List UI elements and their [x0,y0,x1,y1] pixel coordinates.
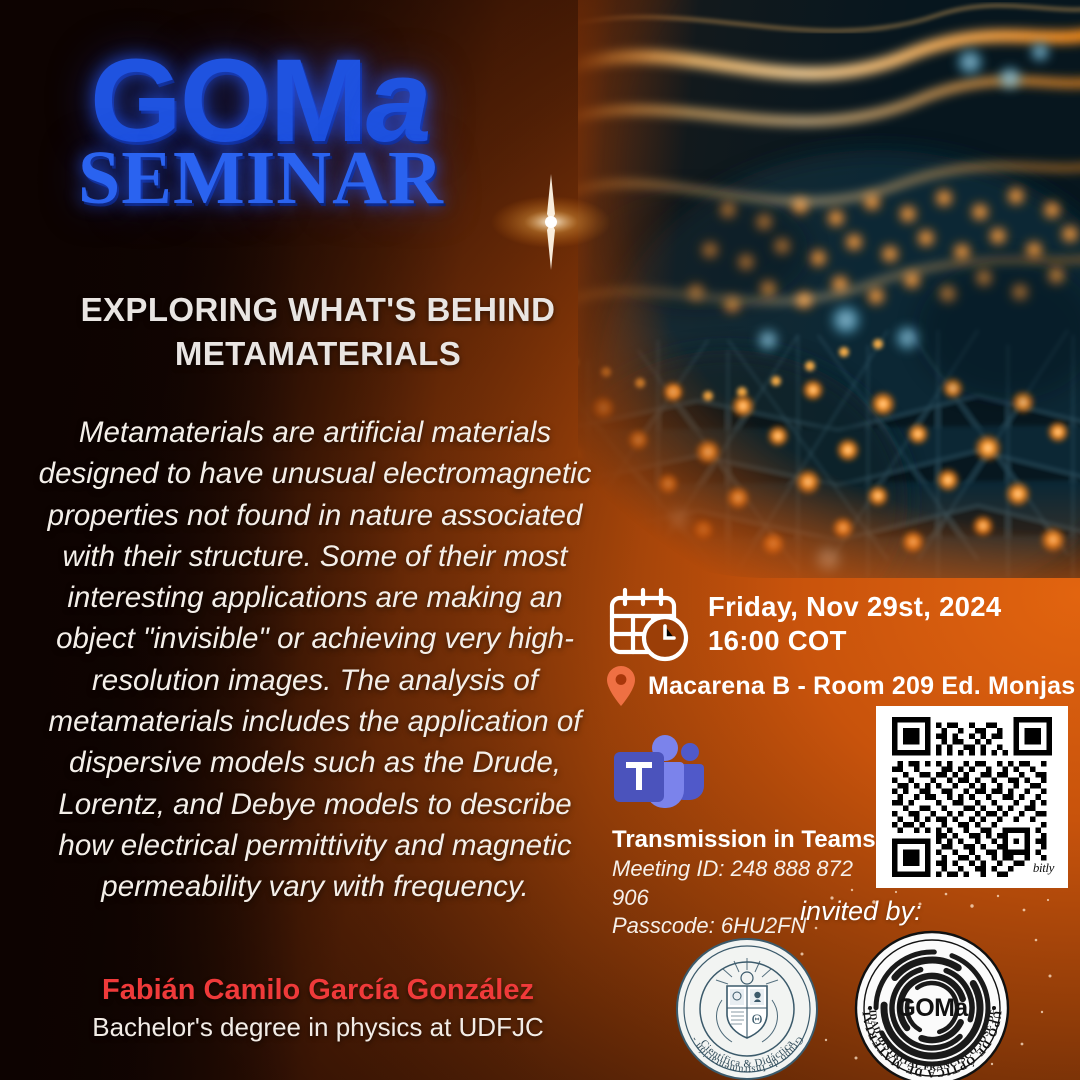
talk-abstract: Metamaterials are artificial materials d… [34,412,596,908]
organizer-seals: Científica & Didáctica Grupo de Instrume… [660,928,1070,1080]
event-time: 16:00 COT [708,624,1001,658]
invited-by-label: invited by: [800,896,922,927]
talk-title-line1: EXPLORING WHAT'S BEHIND [40,288,596,332]
talk-title-line2: METAMATERIALS [40,332,596,376]
speaker-block: Fabián Camilo García González Bachelor's… [40,972,596,1045]
teams-platform-label: Transmission in Teams [612,825,882,855]
seminar-poster: GOMa SEMINAR EXPLORIN [0,0,1080,1080]
svg-text:Θ: Θ [752,1012,763,1028]
microsoft-teams-icon [612,734,704,812]
event-datetime-row: Friday, Nov 29st, 2024 16:00 COT [606,586,1001,662]
seal-grupo-instrumentacion: Científica & Didáctica Grupo de Instrume… [672,934,822,1080]
speaker-role: Bachelor's degree in physics at UDFJC [40,1011,596,1045]
svg-text:GOMa: GOMa [896,994,969,1022]
location-pin-icon [606,665,636,707]
goma-seminar-logo: GOMa SEMINAR [78,42,598,222]
logo-seminar-text: SEMINAR [78,140,444,216]
event-datetime-text: Friday, Nov 29st, 2024 16:00 COT [708,590,1001,657]
seal-goma-optica: GRUPO DE ÓPTICA DE MATERIALES UNIVERSIDA… [852,928,1012,1080]
qr-code[interactable]: bitly [876,706,1068,888]
calendar-clock-icon [606,586,692,662]
event-date: Friday, Nov 29st, 2024 [708,590,1001,624]
event-location-row: Macarena B - Room 209 Ed. Monjas [606,665,1075,707]
speaker-name: Fabián Camilo García González [40,972,596,1008]
event-location-text: Macarena B - Room 209 Ed. Monjas [648,672,1075,701]
talk-title: EXPLORING WHAT'S BEHIND METAMATERIALS [40,288,596,375]
qr-brand-label: bitly [1033,860,1054,876]
metamaterial-lattice-image [578,0,1080,578]
